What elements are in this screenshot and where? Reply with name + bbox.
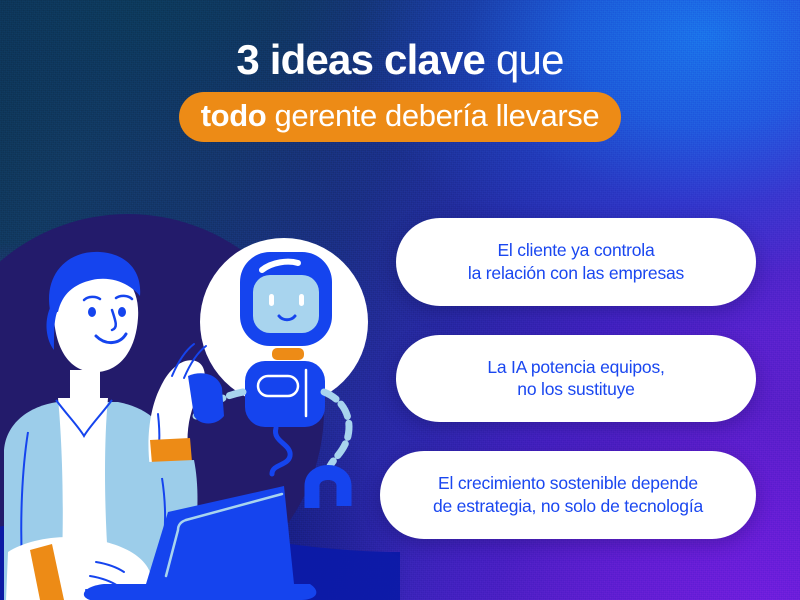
headline-pill-wrapper: todo gerente debería llevarse xyxy=(0,92,800,143)
headline-pill-light-text: gerente debería llevarse xyxy=(266,98,599,133)
key-idea-card-2[interactable]: La IA potencia equipos, no los sustituye xyxy=(396,335,756,423)
person-eye-left xyxy=(88,307,96,317)
hero-illustration xyxy=(0,200,400,600)
key-ideas-card-list: El cliente ya controla la relación con l… xyxy=(396,218,756,539)
robot-eye-right xyxy=(299,294,304,306)
key-idea-card-1[interactable]: El cliente ya controla la relación con l… xyxy=(396,218,756,306)
key-idea-card-3-line-1: El crecimiento sostenible depende xyxy=(398,472,738,495)
headline-pill-bold-text: todo xyxy=(201,98,267,133)
key-idea-card-3[interactable]: El crecimiento sostenible depende de est… xyxy=(380,451,756,539)
key-idea-card-1-line-2: la relación con las empresas xyxy=(422,262,730,285)
robot-face-screen xyxy=(253,275,319,333)
headline-light-text: que xyxy=(485,36,564,83)
poster-canvas: 3 ideas clave que todo gerente debería l… xyxy=(0,0,800,600)
robot-cable-right xyxy=(324,392,349,466)
laptop-base xyxy=(84,584,316,600)
person-neck xyxy=(70,370,100,414)
robot-body xyxy=(245,361,325,427)
headline-block: 3 ideas clave que todo gerente debería l… xyxy=(0,38,800,142)
robot-eye-left xyxy=(269,294,274,306)
headline-bold-text: 3 ideas clave xyxy=(236,36,485,83)
robot-neck-band xyxy=(272,348,304,360)
key-idea-card-2-line-2: no los sustituye xyxy=(422,378,730,401)
key-idea-card-3-line-2: de estrategia, no solo de tecnología xyxy=(398,495,738,518)
person-eye-right xyxy=(118,307,126,317)
headline-line-1: 3 ideas clave que xyxy=(0,38,800,83)
shirt-placket xyxy=(58,398,108,560)
key-idea-card-1-line-1: El cliente ya controla xyxy=(422,239,730,262)
headline-highlight-pill: todo gerente debería llevarse xyxy=(179,92,622,143)
floating-claw-icon xyxy=(312,473,344,509)
key-idea-card-2-line-1: La IA potencia equipos, xyxy=(422,356,730,379)
person-cuff-raised xyxy=(150,438,192,464)
